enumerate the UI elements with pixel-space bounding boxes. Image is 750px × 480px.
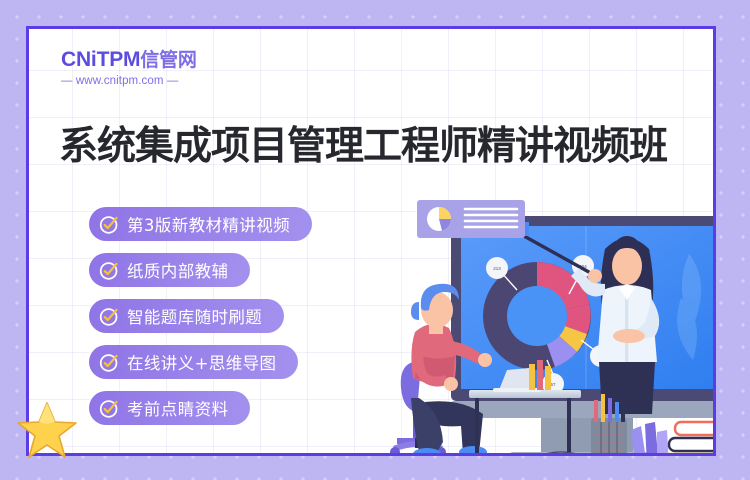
feature-item-5[interactable]: 考前点睛资料 <box>89 391 250 425</box>
brand-cjk-text: 信管网 <box>140 50 196 71</box>
feature-label: 智能题库随时刷题 <box>127 304 262 328</box>
feature-item-3[interactable]: 智能题库随时刷题 <box>89 299 284 333</box>
slide-card <box>417 200 529 238</box>
brand-name: CNiTPM信管网 <box>61 49 197 70</box>
papers <box>631 422 669 456</box>
page-title: 系统集成项目管理工程师精讲视频班 <box>59 125 667 170</box>
check-circle-icon <box>99 260 120 281</box>
star-decoration <box>16 400 78 460</box>
feature-item-4[interactable]: 在线讲义+思维导图 <box>89 345 298 379</box>
check-circle-icon <box>99 398 120 419</box>
pie-chart-icon <box>427 207 451 231</box>
check-circle-icon <box>99 214 120 235</box>
callout-value: 213 <box>493 266 501 271</box>
poster-card: CNiTPM信管网 — www.cnitpm.com — 系统集成项目管理工程师… <box>26 26 716 456</box>
feature-item-1[interactable]: 第3版新教材精讲视频 <box>89 207 312 241</box>
feature-label: 第3版新教材精讲视频 <box>127 212 290 236</box>
feature-list: 第3版新教材精讲视频 纸质内部教辅 智能题库随时刷题 在线讲义+思维导图 考前点… <box>89 207 312 437</box>
feature-label: 纸质内部教辅 <box>127 258 228 282</box>
check-circle-icon <box>99 306 120 327</box>
brand-url: — www.cnitpm.com — <box>61 75 197 87</box>
feature-label: 在线讲义+思维导图 <box>127 350 276 374</box>
callout-value: 67 <box>550 382 556 387</box>
online-class-illustration: 213 504 68 67 <box>389 194 716 456</box>
check-circle-icon <box>99 352 120 373</box>
feature-label: 考前点睛资料 <box>127 396 228 420</box>
brand-latin-text: CNiTPM <box>61 48 140 71</box>
brand-logo: CNiTPM信管网 — www.cnitpm.com — <box>61 49 197 87</box>
book-stack <box>661 422 716 456</box>
feature-item-2[interactable]: 纸质内部教辅 <box>89 253 250 287</box>
